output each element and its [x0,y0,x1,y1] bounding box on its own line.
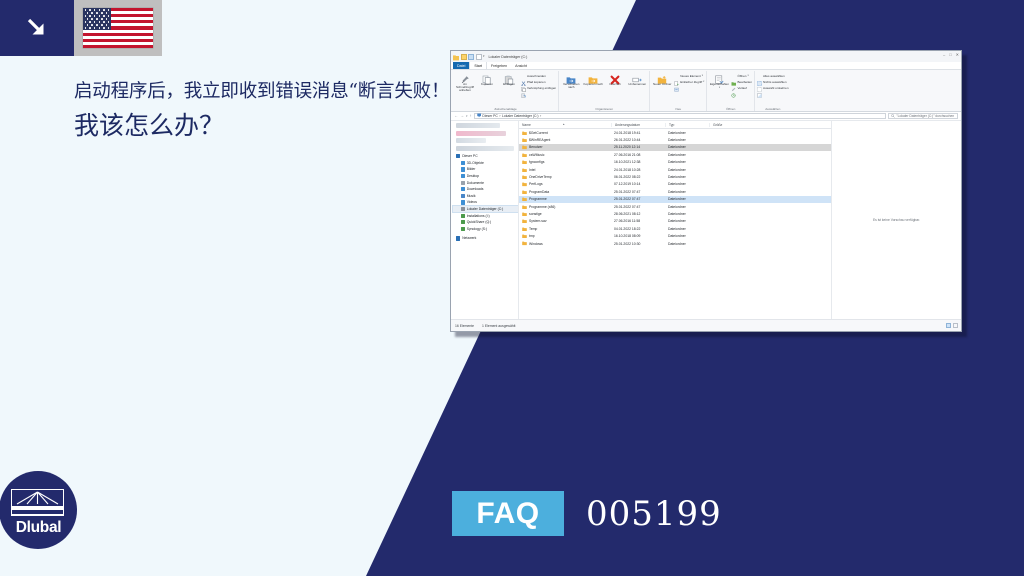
file-type: Dateiordner [665,242,709,246]
file-type: Dateiordner [665,234,709,238]
nav-item-label: Musik [467,194,476,198]
ribbon[interactable]: An Schnellzugriff anheften Kopieren Einf… [451,70,961,112]
blurred-nav-row [456,123,500,128]
file-name: $WinREAgent [529,138,550,142]
videos-icon [461,200,465,204]
file-type: Dateiordner [665,138,709,142]
arrow-down-right-icon [24,15,50,41]
table-row[interactable]: csWMusic 27.06.2016 21:08 Dateiordner [519,151,831,158]
ribbon-group-open: Eigenschaften ▾ Öffnen ▾ [707,71,755,111]
computer-icon [456,154,460,158]
tab-freigeben[interactable]: Freigeben [487,62,511,69]
faq-footer: FAQ 005199 [452,491,722,536]
file-name: Programme (x86) [529,205,555,209]
view-mode-buttons[interactable] [946,323,958,328]
language-flag-badge [74,0,162,56]
file-date: 16.10.2021 12:38 [611,160,665,164]
copy-to-icon [588,72,598,82]
table-row[interactable]: Temp 04.01.2022 18:22 Dateiordner [519,225,831,232]
new-item-icon [674,73,679,78]
arrow-left-icon[interactable]: ← [454,114,458,118]
file-date: 25.11.2020 12:14 [611,145,665,149]
file-type: Dateiordner [665,219,709,223]
chevron-down-icon[interactable]: ▾ [702,74,703,77]
file-list-header[interactable]: Name ▴ Änderungsdatum Typ Größe [519,121,831,129]
ribbon-group-select: Alles auswählen Nichts auswählen [755,71,791,111]
ribbon-button-pfad-kopieren[interactable]: Pfad kopieren [521,79,556,84]
nav-item-3d-objekte[interactable]: 3D-Objekte [453,160,518,167]
file-date: 04.01.2022 18:22 [611,227,665,231]
ribbon-button-ausschneiden[interactable]: Ausschneiden [521,73,556,78]
file-name: Benutzer [529,145,543,149]
file-name: Windows [529,242,543,246]
file-type: Dateiordner [665,212,709,216]
computer-icon [477,113,481,118]
quick-access-toolbar[interactable]: ▾ [453,50,485,66]
chevron-down-icon[interactable]: ▾ [719,86,720,89]
maximize-button[interactable]: □ [949,53,951,57]
file-name: sonstige [529,212,542,216]
minimize-button[interactable]: – [943,53,945,57]
column-label: Name [522,123,531,127]
nav-item-label: Synology (S:) [467,227,487,231]
move-to-icon [566,72,576,82]
ribbon-label: Einfacher Zugriff [680,80,702,84]
column-header-size[interactable]: Größe [709,123,749,127]
downloads-icon [461,187,465,191]
folder-icon [522,160,527,164]
headline-line-2: 我该怎么办？ [74,110,444,141]
column-header-name[interactable]: Name ▴ [519,123,611,127]
nav-item-label: QuickShare (Q:) [467,220,492,224]
file-type: Dateiordner [665,227,709,231]
nav-item-installations-i[interactable]: Installations (I:) [453,212,518,219]
ribbon-label: Auswahl umkehren [763,86,789,90]
file-type: Dateiordner [665,145,709,149]
table-row[interactable]: sonstige 28.06.2021 08:12 Dateiordner [519,210,831,217]
file-date: 25.01.2022 10:30 [611,242,665,246]
chevron-down-icon[interactable]: ▾ [747,74,748,77]
file-type: Dateiordner [665,153,709,157]
slide-canvas: 启动程序后，我立即收到错误消息“断言失败！” 我该怎么办？ Dlubal FAQ… [0,0,1024,576]
explorer-window-title: Lokaler Datenträger (C:) [489,55,528,59]
ribbon-label: Nichts auswählen [763,80,787,84]
open-icon [731,73,736,78]
properties-icon [714,72,724,82]
preview-message: Es ist keine Vorschau verfügbar. [873,218,920,222]
file-name: Programme [529,197,547,201]
delete-red-x-icon [610,72,620,82]
network-drive-icon [461,227,465,231]
select-all-icon [757,73,762,78]
folder-icon [522,205,527,209]
table-row[interactable]: Programme 25.01.2022 07:47 Dateiordner [519,196,831,203]
qat-dropdown-icon[interactable]: ▾ [483,55,485,58]
table-row[interactable]: OneDriveTemp 06.01.2022 08:22 Dateiordne… [519,173,831,180]
page-title: 启动程序后，我立即收到错误消息“断言失败！” 我该怎么办？ [74,80,444,141]
3d-objects-icon [461,161,465,165]
ribbon-button-oeffnen[interactable]: Öffnen ▾ [731,73,752,78]
faq-badge: FAQ [452,491,564,536]
table-row[interactable]: fgnconfigs 16.10.2021 12:38 Dateiordner [519,159,831,166]
pictures-icon [461,167,465,171]
file-type: Dateiordner [665,160,709,164]
history-icon [731,85,736,90]
headline-line-1: 启动程序后，我立即收到错误消息“断言失败！” [74,80,444,103]
ribbon-button-verschieben-nach[interactable]: Verschieben nach [561,72,581,89]
faq-number: 005199 [586,494,722,534]
chevron-down-icon[interactable]: ▾ [703,80,704,83]
file-list[interactable]: Name ▴ Änderungsdatum Typ Größe $GetCurr… [519,121,831,319]
nav-item-label: Desktop [467,174,479,178]
ribbon-button-nichts-auswaehlen[interactable]: Nichts auswählen [757,79,789,84]
ribbon-label: Verknüpfung einfügen [527,86,556,90]
edit-icon [731,79,736,84]
documents-icon [461,181,465,185]
table-row[interactable]: Benutzer 25.11.2020 12:14 Dateiordner [519,144,831,151]
easy-access-icon [674,79,679,84]
ribbon-group-label: Zwischenablage [455,107,556,112]
file-date: 06.01.2022 08:22 [611,175,665,179]
nav-item-bilder[interactable]: Bilder [453,166,518,173]
nav-item-quickshare-q[interactable]: QuickShare (Q:) [453,219,518,226]
address-bar-row[interactable]: ← → ▾ ↑ Dieser PC › Lokaler Datenträger … [451,112,961,121]
breadcrumb[interactable]: Dieser PC › Lokaler Datenträger (C:) › [474,113,886,120]
table-row[interactable]: tmp 16.10.2018 08:09 Dateiordner [519,232,831,239]
select-none-icon [757,79,762,84]
column-header-type[interactable]: Typ [665,123,709,127]
ribbon-group-label: Neu [652,107,704,112]
status-bar: 16 Elemente 1 Element ausgewählt [451,319,961,331]
ribbon-label: Verlauf [737,86,746,90]
table-row[interactable]: Programme (x86) 25.01.2022 07:47 Dateior… [519,203,831,210]
blurred-nav-row [456,146,514,151]
folder-icon [522,138,527,142]
invert-selection-icon [757,85,762,90]
folder-icon [522,182,527,186]
close-button[interactable]: ✕ [956,53,959,57]
table-row[interactable]: PerfLogs 07.12.2019 10:14 Dateiordner [519,181,831,188]
file-name: Temp [529,227,537,231]
ribbon-group-label: Öffnen [709,107,752,112]
nav-item-videos[interactable]: Videos [453,199,518,206]
ribbon-button-neues-element[interactable]: Neues Element ▾ [674,73,704,78]
file-name: csWMusic [529,153,544,157]
ribbon-label: Kopieren nach [584,83,603,86]
file-type: Dateiordner [665,182,709,186]
ribbon-label: Alles auswählen [763,74,785,78]
ribbon-button-kopieren[interactable]: Kopieren [477,72,497,86]
ribbon-button-umbenennen[interactable]: Umbenennen [627,72,647,86]
rename-icon [632,72,642,82]
table-row[interactable]: Windows 25.01.2022 10:30 Dateiordner [519,240,831,247]
ribbon-label: Kopieren [481,83,493,86]
nav-item-label: Netzwerk [462,236,476,240]
arrow-down-right-badge [0,0,74,56]
file-name: tmp [529,234,535,238]
file-date: 27.06.2016 11:58 [611,219,665,223]
nav-item-label: Dokumente [467,181,484,185]
ribbon-button-auswahl-umkehren[interactable]: Auswahl umkehren [757,85,789,90]
table-row[interactable]: System.sav 27.06.2016 11:58 Dateiordner [519,218,831,225]
ribbon-group-new: Neuer Ordner Neues Element ▾ [650,71,707,111]
nav-item-downloads[interactable]: Downloads [453,186,518,193]
ribbon-label: Einfügen [503,83,515,86]
nav-item-desktop[interactable]: Desktop [453,173,518,180]
file-type: Dateiordner [665,205,709,209]
file-date: 16.10.2018 08:09 [611,234,665,238]
qat-folder-icon[interactable] [461,54,467,60]
folder-icon [522,175,527,179]
file-date: 25.01.2022 07:47 [611,205,665,209]
nav-item-netzwerk[interactable]: Netzwerk [453,235,518,242]
breadcrumb-item-lokaler-datentraeger[interactable]: Lokaler Datenträger (C:) [502,114,539,118]
ribbon-button-einfuegen[interactable]: Einfügen [499,72,519,86]
ribbon-label: Ausschneiden [527,74,546,78]
folder-icon [522,234,527,238]
network-drive-icon [461,220,465,224]
folder-icon [522,241,527,245]
column-header-date[interactable]: Änderungsdatum [611,123,665,127]
file-date: 24.01.2018 19:41 [611,131,665,135]
ribbon-button-loeschen[interactable]: Löschen [605,72,625,86]
ribbon-button-pin-to-quick-access[interactable]: An Schnellzugriff anheften [455,72,475,93]
windows-explorer-window[interactable]: ▾ Lokaler Datenträger (C:) – □ ✕ Datei S… [450,50,962,332]
ribbon-button-verknuepfung-einfuegen[interactable]: Verknüpfung einfügen [521,85,556,90]
nav-item-label: Lokaler Datenträger (C:) [467,207,504,211]
file-date: 25.01.2022 07:47 [611,190,665,194]
folder-icon [522,168,527,172]
nav-item-lokaler-datentraeger-c[interactable]: Lokaler Datenträger (C:) [453,206,518,213]
sort-ascending-icon: ▴ [563,122,565,126]
ribbon-tab-strip[interactable]: Datei Start Freigeben Ansicht [451,62,961,70]
explorer-body: Dieser PC 3D-Objekte Bilder Desktop Doku… [451,121,961,319]
file-date: 26.01.2022 10:44 [611,138,665,142]
search-input[interactable]: "Lokaler Datenträger (C:)" durchsuchen [888,113,958,120]
table-row[interactable]: $WinREAgent 26.01.2022 10:44 Dateiordner [519,136,831,143]
new-folder-icon [657,72,667,82]
status-selected-count: 1 Element ausgewählt [482,324,515,328]
ribbon-button-alles-auswaehlen[interactable]: Alles auswählen [757,73,789,78]
folder-icon [522,219,527,223]
arrow-up-icon[interactable]: ↑ [470,114,472,118]
ribbon-label: An Schnellzugriff anheften [455,83,475,93]
pin-icon [460,72,470,82]
music-icon [461,194,465,198]
file-name: fgnconfigs [529,160,544,164]
table-row[interactable]: ProgramData 25.01.2022 07:47 Dateiordner [519,188,831,195]
qat-new-folder-icon[interactable] [476,54,482,60]
ribbon-label: Umbenennen [628,83,646,86]
ribbon-group-label: Auswählen [757,107,789,112]
us-flag-icon [83,8,153,48]
ribbon-button-einfacher-zugriff[interactable]: Einfacher Zugriff ▾ [674,79,704,84]
ribbon-label: Bearbeiten [737,80,752,84]
chevron-down-icon[interactable]: ▾ [466,115,468,118]
search-placeholder: "Lokaler Datenträger (C:)" durchsuchen [897,114,955,118]
ribbon-label: Neues Element [680,74,701,78]
ribbon-label: Löschen [610,83,621,86]
file-name: ProgramData [529,190,549,194]
explorer-title-bar[interactable]: ▾ Lokaler Datenträger (C:) – □ ✕ [451,51,961,62]
ribbon-button-kopieren-nach[interactable]: Kopieren nach [583,72,603,86]
blurred-nav-row [456,138,486,143]
file-type: Dateiordner [665,168,709,172]
file-name: PerfLogs [529,182,543,186]
search-icon [891,114,895,119]
ribbon-label: Öffnen [737,74,746,78]
ribbon-group-organize: Verschieben nach Kopieren nach Löschen [559,71,650,111]
folder-icon [522,145,527,149]
breadcrumb-item-dieser-pc[interactable]: Dieser PC [482,114,497,118]
ribbon-group-label: Organisieren [561,107,647,112]
nav-item-label: Videos [467,200,477,204]
arrow-right-icon[interactable]: → [460,114,464,118]
qat-properties-icon[interactable] [468,54,474,60]
nav-item-label: Dieser PC [462,154,477,158]
file-date: 24.01.2018 10:28 [611,168,665,172]
status-item-count: 16 Elemente [455,324,474,328]
nav-item-label: Bilder [467,167,476,171]
folder-icon [522,153,527,157]
file-date: 28.06.2021 08:12 [611,212,665,216]
folder-icon [522,190,527,194]
blurred-nav-row [456,131,506,136]
paste-shortcut-icon [521,85,526,90]
scissors-icon [521,73,526,78]
breadcrumb-separator-2: › [540,114,541,118]
details-view-icon[interactable] [946,323,951,328]
folder-icon [522,212,527,216]
ribbon-button-bearbeiten[interactable]: Bearbeiten [731,79,752,84]
window-controls[interactable]: – □ ✕ [943,53,959,57]
file-name: OneDriveTemp [529,175,552,179]
nav-item-musik[interactable]: Musik [453,193,518,200]
network-drive-icon [461,214,465,218]
nav-item-dokumente[interactable]: Dokumente [453,179,518,186]
ribbon-label: Eigenschaften [710,83,729,86]
explorer-app-icon [453,50,459,66]
ribbon-label: Pfad kopieren [527,80,546,84]
preview-pane: Es ist keine Vorschau verfügbar. [831,121,961,319]
file-type: Dateiordner [665,190,709,194]
breadcrumb-separator: › [499,114,500,118]
file-date: 27.06.2016 21:08 [611,153,665,157]
table-row[interactable]: Intel 24.01.2018 10:28 Dateiordner [519,166,831,173]
ribbon-label: Neuer Ordner [653,83,671,86]
hard-drive-icon [461,207,465,211]
logo-wordmark: Dlubal [0,519,77,537]
nav-item-synology-s[interactable]: Synology (S:) [453,226,518,233]
desktop-icon [461,174,465,178]
file-name: Intel [529,168,535,172]
nav-item-label: Installations (I:) [467,214,490,218]
ribbon-button-neuer-ordner[interactable]: Neuer Ordner [652,72,672,86]
folder-icon [522,227,527,231]
file-name: $GetCurrent [529,131,548,135]
file-name: System.sav [529,219,547,223]
table-row[interactable]: $GetCurrent 24.01.2018 19:41 Dateiordner [519,129,831,136]
ribbon-button-eigenschaften[interactable]: Eigenschaften ▾ [709,72,729,89]
nav-item-label: Downloads [467,187,484,191]
paste-icon [504,72,514,82]
file-date: 07.12.2019 10:14 [611,182,665,186]
folder-icon [522,197,527,201]
tab-ansicht[interactable]: Ansicht [511,62,531,69]
tiles-view-icon[interactable] [953,323,958,328]
file-type: Dateiordner [665,131,709,135]
file-type: Dateiordner [665,175,709,179]
copy-icon [482,72,492,82]
dlubal-logo[interactable]: Dlubal [0,471,77,550]
copy-path-icon [521,79,526,84]
navigation-pane[interactable]: Dieser PC 3D-Objekte Bilder Desktop Doku… [451,121,519,319]
ribbon-label: Verschieben nach [561,83,581,90]
network-icon [456,236,460,240]
nav-item-label: 3D-Objekte [467,161,484,165]
folder-icon [522,131,527,135]
file-date: 25.01.2022 07:47 [611,197,665,201]
ribbon-button-verlauf[interactable]: Verlauf [731,85,752,90]
file-type: Dateiordner [665,197,709,201]
dlubal-bridge-icon [11,489,64,517]
nav-item-dieser-pc[interactable]: Dieser PC [453,153,518,160]
ribbon-group-clipboard: An Schnellzugriff anheften Kopieren Einf… [453,71,559,111]
